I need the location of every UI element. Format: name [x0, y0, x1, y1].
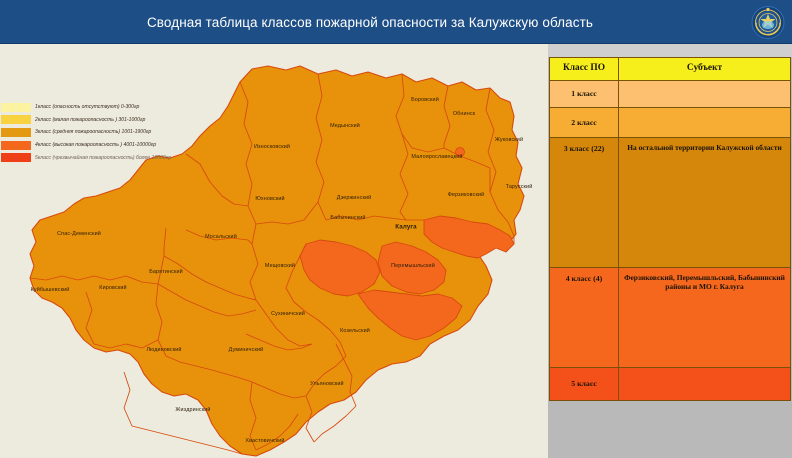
district-label: Боровский — [411, 97, 439, 103]
district-label: Кировский — [99, 285, 126, 291]
district-label: Спас-Деменский — [57, 231, 101, 237]
district-label: Перемышльский — [391, 263, 435, 269]
district-label: Износковский — [254, 144, 290, 150]
summary-table-panel: Класс ПО Субъект 1 класс 2 класс 3 класс… — [548, 57, 792, 458]
table-header-row: Класс ПО Субъект — [550, 58, 791, 81]
district-label: Думиничский — [229, 347, 264, 353]
cell-class-label: 5 класс — [550, 368, 619, 401]
slide-root: Сводная таблица классов пожарной опаснос… — [0, 0, 792, 458]
district-label: Барятинский — [149, 269, 183, 275]
district-label: Мещовский — [265, 263, 295, 269]
legend-label: 5класс (чрезвычайная пожароопасность) бо… — [35, 155, 171, 161]
legend-label: 4класс (высокая пожароопасность ) 4001-1… — [35, 142, 156, 148]
table-row: 3 класс (22) На остальной территории Кал… — [550, 138, 791, 268]
cell-subject: Ферзиковский, Перемышльский, Бабынинский… — [619, 268, 791, 368]
district-label: Бабынинский — [330, 215, 365, 221]
page-title: Сводная таблица классов пожарной опаснос… — [0, 0, 740, 44]
cell-subject — [619, 368, 791, 401]
legend-swatch — [1, 153, 31, 162]
emercom-emblem-icon — [748, 3, 788, 42]
cell-class-label: 2 класс — [550, 108, 619, 138]
district-label: Калуга — [395, 224, 417, 231]
district-label: Людиновский — [146, 347, 181, 353]
legend-item: 3класс (средняя пожароопасность) 1001-19… — [0, 126, 200, 139]
district-label: Малоярославецкий — [411, 154, 462, 160]
district-label: Обнинск — [453, 111, 475, 117]
legend-label: 3класс (средняя пожароопасность) 1001-19… — [35, 129, 151, 135]
district-label: Сухиничский — [271, 311, 305, 317]
column-header-class: Класс ПО — [550, 58, 619, 81]
district-label: Жиздринский — [175, 407, 210, 413]
district-label: Хвастовичский — [245, 438, 284, 444]
table-row: 5 класс — [550, 368, 791, 401]
fire-danger-legend: 1класс (опасность отсутствуют) 0-300гр 2… — [0, 101, 200, 164]
map-panel: Износковский Медынский Боровский Обнинск… — [0, 44, 548, 458]
cell-class-label: 3 класс (22) — [550, 138, 619, 268]
district-label: Тарусский — [506, 184, 533, 190]
legend-swatch — [1, 128, 31, 137]
table-row: 4 класс (4) Ферзиковский, Перемышльский,… — [550, 268, 791, 368]
cell-subject — [619, 108, 791, 138]
cell-class-label: 1 класс — [550, 81, 619, 108]
column-header-subject: Субъект — [619, 58, 791, 81]
legend-item: 1класс (опасность отсутствуют) 0-300гр — [0, 101, 200, 114]
fire-danger-summary-table: Класс ПО Субъект 1 класс 2 класс 3 класс… — [549, 57, 791, 401]
cell-class-label: 4 класс (4) — [550, 268, 619, 368]
legend-label: 1класс (опасность отсутствуют) 0-300гр — [35, 104, 139, 110]
legend-item: 2класс (малая пожароопасность ) 301-1000… — [0, 114, 200, 127]
legend-swatch — [1, 103, 31, 112]
district-label: Юхновский — [255, 196, 284, 202]
header-bar: Сводная таблица классов пожарной опаснос… — [0, 0, 792, 44]
legend-label: 2класс (малая пожароопасность ) 301-1000… — [35, 117, 145, 123]
district-label: Медынский — [330, 123, 360, 129]
district-label: Куйбышевский — [31, 287, 70, 293]
legend-item: 4класс (высокая пожароопасность ) 4001-1… — [0, 139, 200, 152]
cell-subject: На остальной территории Калужской област… — [619, 138, 791, 268]
district-label: Ферзиковский — [448, 192, 485, 198]
cell-subject — [619, 81, 791, 108]
legend-swatch — [1, 141, 31, 150]
district-label: Дзержинский — [337, 195, 372, 201]
table-row: 2 класс — [550, 108, 791, 138]
legend-swatch — [1, 115, 31, 124]
table-row: 1 класс — [550, 81, 791, 108]
district-label: Козельский — [340, 328, 370, 334]
district-label: Ульяновский — [310, 381, 343, 387]
legend-item: 5класс (чрезвычайная пожароопасность) бо… — [0, 151, 200, 164]
district-label: Мосальский — [205, 234, 237, 240]
district-label: Жуковский — [495, 137, 523, 143]
